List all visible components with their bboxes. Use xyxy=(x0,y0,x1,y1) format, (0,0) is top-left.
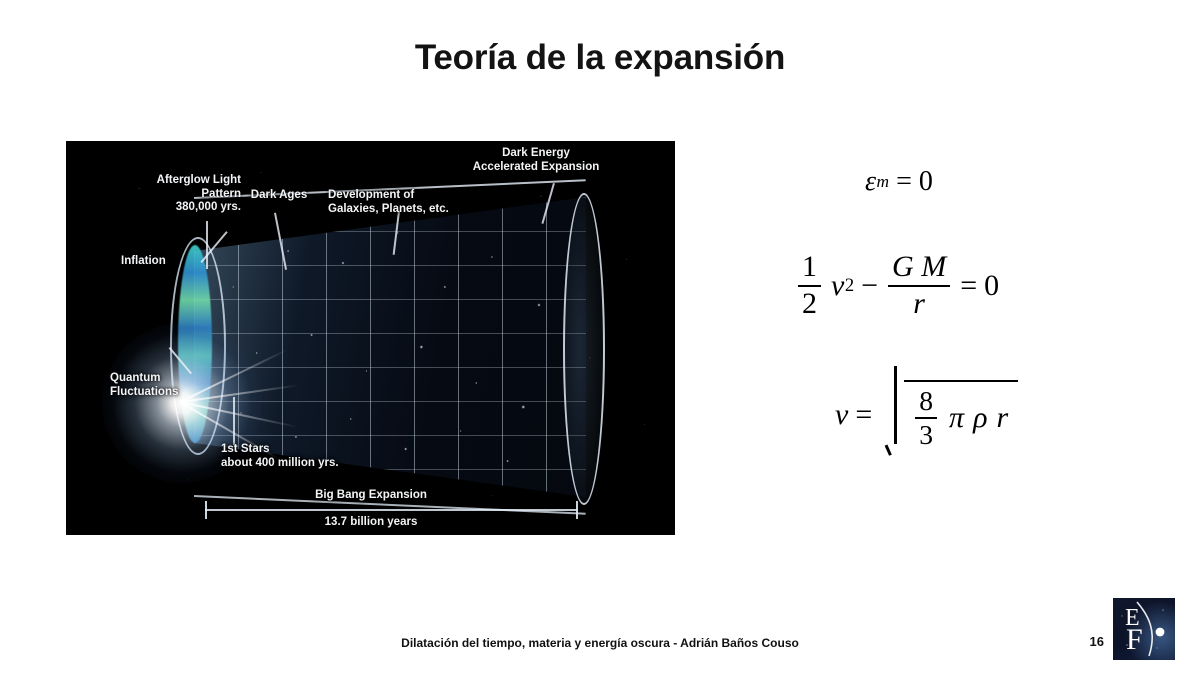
fraction-denominator: r xyxy=(909,289,929,320)
fraction-numerator: 8 xyxy=(915,387,937,415)
label-first-stars: 1st Stars about 400 million yrs. xyxy=(221,443,401,470)
fraction-denominator: 3 xyxy=(915,421,937,449)
measure-cap-left xyxy=(205,501,207,519)
fraction-numerator: 1 xyxy=(798,252,821,283)
label-inflation: Inflation xyxy=(121,255,203,269)
label-quantum-fluctuations: Quantum Fluctuations xyxy=(110,372,210,399)
square-root: 8 3 π ρ r xyxy=(883,380,1018,449)
radical-sign-icon xyxy=(883,380,905,449)
label-timespan-years: 13.7 billion years xyxy=(271,516,471,530)
radicand: 8 3 π ρ r xyxy=(904,380,1018,449)
equals-sign: = xyxy=(855,398,872,432)
page-title: Teoría de la expansión xyxy=(0,38,1200,78)
equation-epsilon-m-zero: εm = 0 xyxy=(865,166,933,198)
brand-logo: E F xyxy=(1113,598,1175,660)
epsilon-subscript-m: m xyxy=(877,172,890,192)
label-afterglow-light-pattern: Afterglow Light Pattern 380,000 yrs. xyxy=(113,174,241,215)
equation-group: εm = 0 1 2 v2 − G M r = 0 v = 8 xyxy=(760,150,1140,490)
fraction-eight-thirds: 8 3 xyxy=(915,387,937,449)
cone-right-rim xyxy=(563,193,605,505)
equals-sign: = xyxy=(896,166,912,198)
label-dark-ages: Dark Ages xyxy=(236,189,322,203)
epsilon-symbol: ε xyxy=(865,166,876,198)
universe-expansion-image: Afterglow Light Pattern 380,000 yrs. Dar… xyxy=(66,141,675,535)
radius-symbol: r xyxy=(996,401,1008,435)
footer-caption: Dilatación del tiempo, materia y energía… xyxy=(0,636,1200,650)
value-zero: 0 xyxy=(984,269,999,303)
velocity-symbol: v xyxy=(835,398,848,432)
label-dark-energy: Dark Energy Accelerated Expansion xyxy=(436,147,636,174)
label-development-of-galaxies: Development of Galaxies, Planets, etc. xyxy=(328,189,478,216)
pi-symbol: π xyxy=(949,401,964,435)
fraction-gm-over-r: G M r xyxy=(888,252,950,319)
timespan-measure-bar xyxy=(205,509,578,511)
svg-text:F: F xyxy=(1126,623,1143,656)
velocity-exponent: 2 xyxy=(845,275,854,297)
equation-escape-velocity: v = 8 3 π ρ r xyxy=(835,380,1018,449)
equation-energy-balance: 1 2 v2 − G M r = 0 xyxy=(795,252,999,319)
fraction-denominator: 2 xyxy=(798,289,821,320)
minus-sign: − xyxy=(861,269,878,303)
page-number: 16 xyxy=(1080,634,1104,649)
rho-symbol: ρ xyxy=(973,401,987,435)
measure-cap-right xyxy=(576,501,578,519)
value-zero: 0 xyxy=(919,166,933,198)
fraction-numerator: G M xyxy=(888,252,950,283)
velocity-symbol: v xyxy=(831,269,844,303)
leader-line-first-stars xyxy=(233,397,235,445)
fraction-one-half: 1 2 xyxy=(798,252,821,319)
label-big-bang-expansion: Big Bang Expansion xyxy=(271,489,471,503)
equals-sign: = xyxy=(960,269,977,303)
leader-line-afterglow xyxy=(206,221,208,269)
